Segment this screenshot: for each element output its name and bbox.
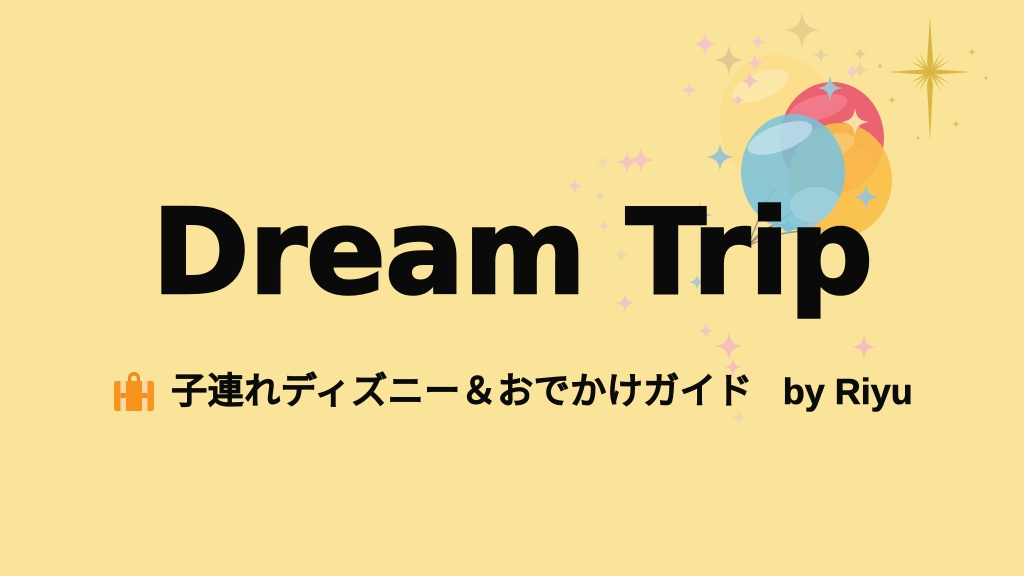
byline-text: by Riyu — [783, 374, 913, 410]
subtitle-text: 子連れディズニー＆おでかけガイド — [171, 374, 752, 410]
subtitle-row: 子連れディズニー＆おでかけガイド by Riyu — [0, 370, 1024, 414]
text-layer: Dream Trip 子連れディズニー＆おでかけガイド — [0, 0, 1024, 576]
banner-canvas: Dream Trip 子連れディズニー＆おでかけガイド — [0, 0, 1024, 576]
suitcase-icon — [111, 370, 157, 414]
page-title: Dream Trip — [0, 193, 1024, 311]
